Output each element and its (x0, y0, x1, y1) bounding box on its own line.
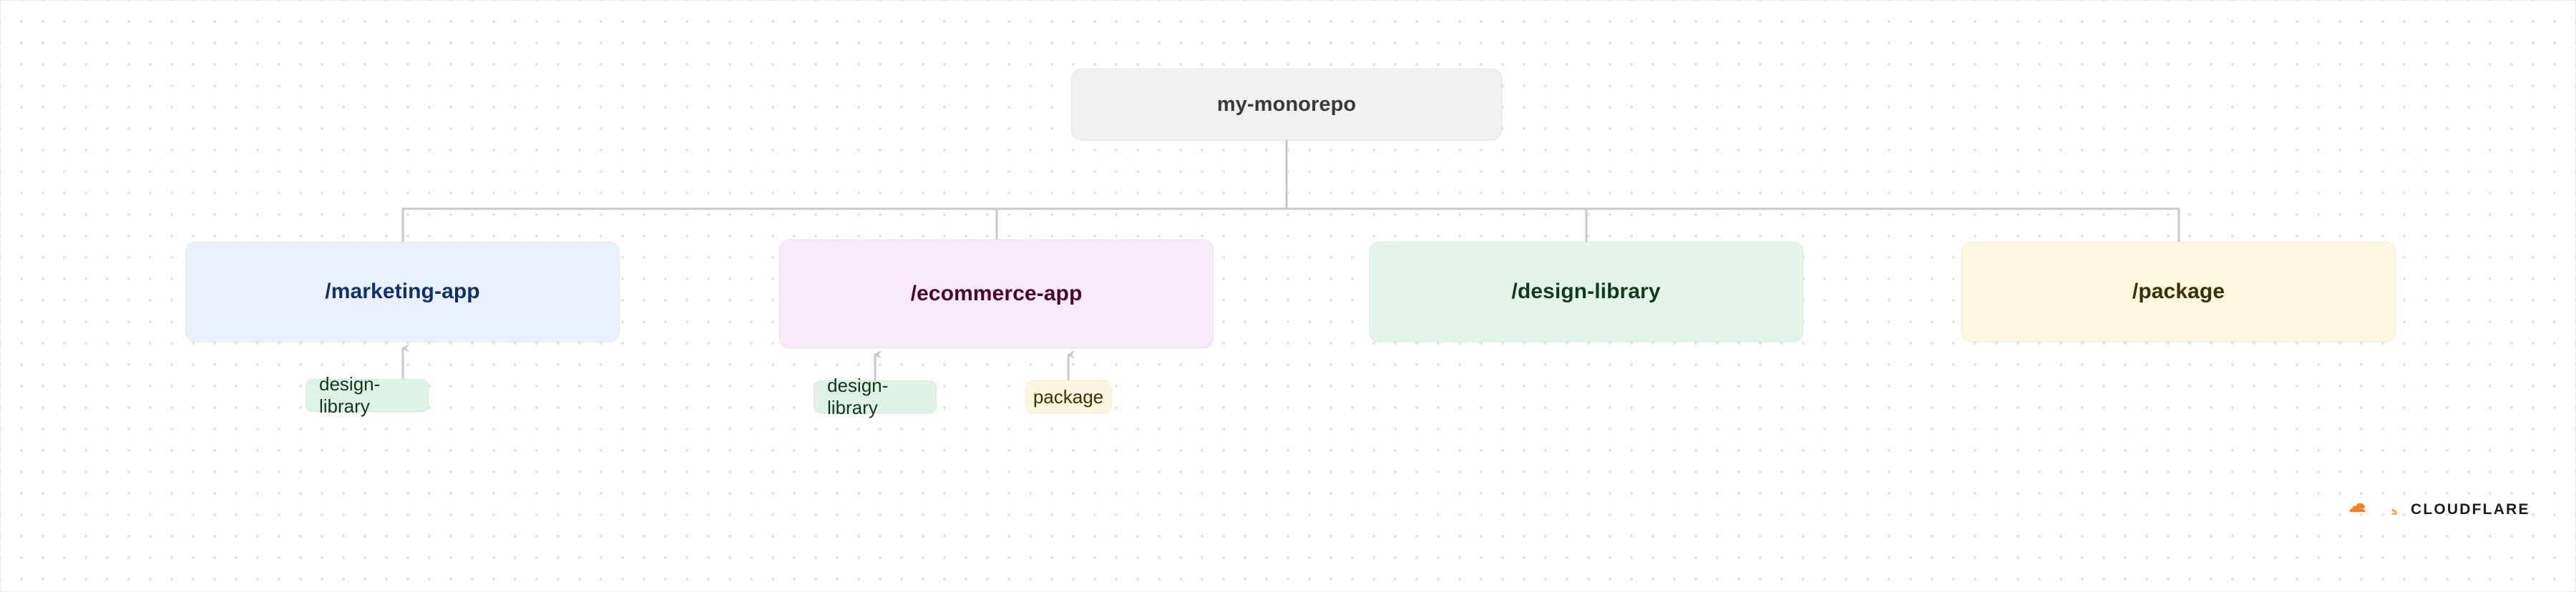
dependency-tag-ecommerce-design-library[interactable]: design-library (814, 380, 937, 413)
node-label: my-monorepo (1217, 93, 1356, 117)
node-marketing-app[interactable]: /marketing-app (185, 242, 620, 342)
dependency-tag-marketing-design-library[interactable]: design-library (306, 379, 429, 412)
dependency-tag-ecommerce-package[interactable]: package (1025, 380, 1111, 413)
node-my-monorepo[interactable]: my-monorepo (1071, 69, 1502, 140)
node-design-library[interactable]: /design-library (1369, 242, 1803, 342)
node-ecommerce-app[interactable]: /ecommerce-app (779, 240, 1214, 348)
cloudflare-wordmark: CLOUDFLARE (2411, 502, 2530, 517)
connector-root-to-ecommerce (997, 209, 1287, 240)
connector-root-to-marketing (403, 209, 1287, 242)
diagram-canvas: my-monorepo /marketing-app /ecommerce-ap… (0, 0, 2576, 592)
node-label: /marketing-app (325, 280, 479, 304)
cloudflare-cloud-icon (2348, 496, 2402, 522)
cloudflare-logo: CLOUDFLARE (2348, 493, 2531, 526)
connector-root-to-package (1287, 209, 2179, 242)
node-label: /package (2132, 280, 2225, 304)
dependency-tag-label: design-library (827, 375, 923, 419)
node-label: /design-library (1511, 280, 1660, 304)
node-package[interactable]: /package (1961, 242, 2396, 342)
dependency-tag-label: package (1033, 386, 1103, 408)
dependency-tag-label: design-library (319, 373, 415, 418)
node-label: /ecommerce-app (911, 282, 1083, 306)
connector-root-to-design (1287, 209, 1586, 242)
